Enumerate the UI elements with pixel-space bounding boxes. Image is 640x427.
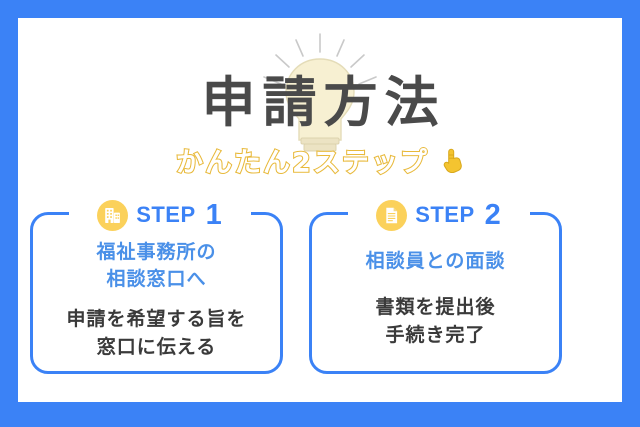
steps-container: STEP 1 福祉事務所の 相談窓口へ 申請を希望する旨を 窓口に伝える	[18, 192, 622, 392]
step-text-1-line-1: 申請を希望する旨を	[66, 305, 246, 333]
step-body-2: 相談員との面談 書類を提出後 手続き完了	[312, 215, 559, 371]
hero-section: 申請方法 かんたん2ステップ	[18, 18, 622, 186]
subtitle-text: かんたん2ステップ	[176, 148, 429, 179]
step-heading-1-line-2: 相談窓口へ	[96, 266, 216, 293]
step-heading-1-line-1: 福祉事務所の	[96, 239, 216, 266]
step-text-2-line-2: 手続き完了	[375, 321, 495, 349]
step-text-1: 申請を希望する旨を 窓口に伝える	[66, 305, 246, 361]
step-text-2: 書類を提出後 手続き完了	[375, 293, 495, 349]
step-heading-2-line-1: 相談員との面談	[366, 248, 506, 275]
white-canvas: 申請方法 かんたん2ステップ	[18, 18, 622, 402]
page-title: 申請方法	[18, 76, 622, 130]
subtitle-row: かんたん2ステップ	[18, 146, 622, 181]
step-text-2-line-1: 書類を提出後	[375, 293, 495, 321]
step-text-1-line-2: 窓口に伝える	[66, 333, 246, 361]
step-heading-1: 福祉事務所の 相談窓口へ	[96, 239, 216, 293]
step-card-1[interactable]: STEP 1 福祉事務所の 相談窓口へ 申請を希望する旨を 窓口に伝える	[30, 212, 283, 374]
step-heading-2: 相談員との面談	[366, 248, 506, 275]
pointing-finger-icon	[442, 147, 464, 173]
step-card-2[interactable]: STEP 2 相談員との面談 書類を提出後 手続き完了	[309, 212, 562, 374]
infographic-screen: 申請方法 かんたん2ステップ	[0, 0, 640, 427]
step-body-1: 福祉事務所の 相談窓口へ 申請を希望する旨を 窓口に伝える	[33, 215, 280, 371]
